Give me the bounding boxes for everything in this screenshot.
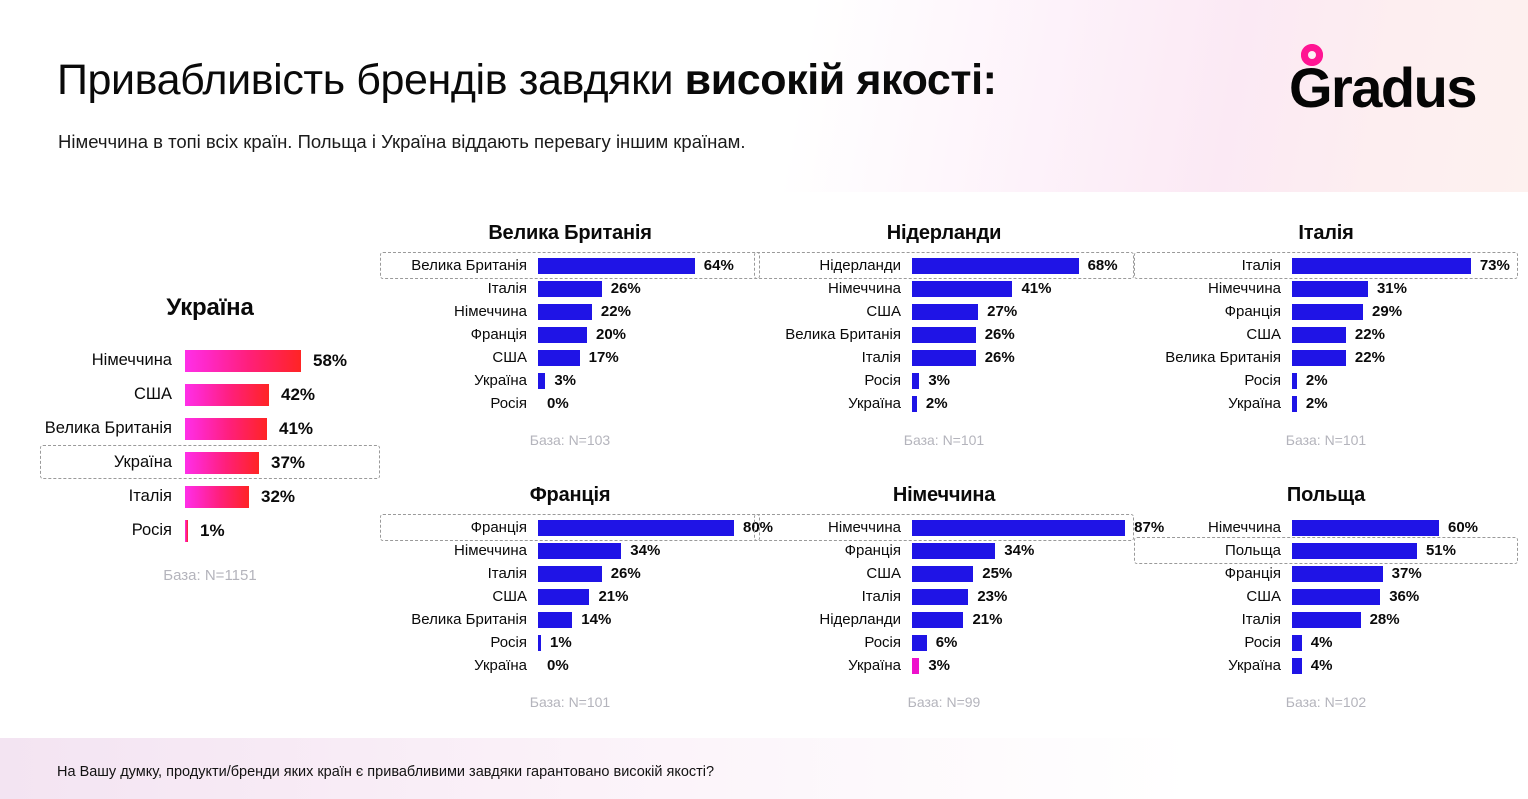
chart-rows: Франція80%Німеччина34%Італія26%США21%Вел… bbox=[386, 517, 754, 676]
header-band: Привабливість брендів завдяки високій як… bbox=[0, 0, 1528, 192]
value-bar bbox=[912, 566, 973, 582]
category-label: Росія bbox=[40, 521, 185, 540]
chart-panel-франція: ФранціяФранція80%Німеччина34%Італія26%СШ… bbox=[386, 484, 754, 710]
category-label: Україна bbox=[386, 657, 538, 674]
value-bar bbox=[912, 258, 1079, 274]
value-bar bbox=[1292, 350, 1346, 366]
category-label: Німеччина bbox=[1140, 519, 1292, 536]
page-title-emphasis: високій якості: bbox=[685, 56, 997, 104]
chart-panel-нідерланди: НідерландиНідерланди68%Німеччина41%США27… bbox=[760, 222, 1128, 448]
base-size-label: База: N=103 bbox=[386, 432, 754, 448]
value-bar bbox=[912, 520, 1125, 536]
survey-question: На Вашу думку, продукти/бренди яких краї… bbox=[57, 764, 714, 780]
value-label: 20% bbox=[596, 326, 626, 343]
value-bar bbox=[538, 520, 734, 536]
value-label: 27% bbox=[987, 303, 1017, 320]
base-size-label: База: N=101 bbox=[1140, 432, 1512, 448]
bar-container: 68% bbox=[912, 255, 1128, 276]
category-label: Німеччина bbox=[386, 303, 538, 320]
bar-container: 28% bbox=[1292, 609, 1512, 630]
value-label: 41% bbox=[279, 419, 313, 439]
value-bar bbox=[912, 635, 927, 651]
value-bar bbox=[1292, 520, 1439, 536]
value-label: 31% bbox=[1377, 280, 1407, 297]
value-bar bbox=[912, 350, 976, 366]
chart-row: Україна37% bbox=[40, 448, 380, 477]
category-label: Франція bbox=[760, 542, 912, 559]
value-bar bbox=[912, 543, 995, 559]
chart-row: США21% bbox=[386, 586, 754, 607]
value-bar bbox=[538, 258, 695, 274]
value-label: 22% bbox=[1355, 326, 1385, 343]
charts-area: УкраїнаНімеччина58%США42%Велика Британія… bbox=[0, 192, 1528, 738]
chart-row: Велика Британія14% bbox=[386, 609, 754, 630]
bar-container: 22% bbox=[1292, 324, 1512, 345]
value-label: 1% bbox=[200, 521, 225, 541]
value-bar bbox=[1292, 327, 1346, 343]
category-label: США bbox=[760, 303, 912, 320]
page-title: Привабливість брендів завдяки високій як… bbox=[57, 56, 997, 105]
chart-row: Італія73% bbox=[1140, 255, 1512, 276]
value-label: 34% bbox=[1004, 542, 1034, 559]
value-label: 4% bbox=[1311, 634, 1333, 651]
category-label: Італія bbox=[40, 487, 185, 506]
value-bar bbox=[185, 384, 269, 406]
chart-row: Італія32% bbox=[40, 482, 380, 511]
chart-row: Велика Британія64% bbox=[386, 255, 754, 276]
value-label: 26% bbox=[985, 349, 1015, 366]
chart-row: Україна0% bbox=[386, 655, 754, 676]
value-bar bbox=[912, 396, 917, 412]
chart-row: Німеччина60% bbox=[1140, 517, 1512, 538]
category-label: Велика Британія bbox=[40, 419, 185, 438]
value-bar bbox=[1292, 304, 1363, 320]
chart-row: Росія1% bbox=[386, 632, 754, 653]
chart-row: США36% bbox=[1140, 586, 1512, 607]
value-label: 41% bbox=[1021, 280, 1051, 297]
value-label: 21% bbox=[972, 611, 1002, 628]
chart-row: Росія2% bbox=[1140, 370, 1512, 391]
category-label: Італія bbox=[760, 349, 912, 366]
chart-panel-німеччина: НімеччинаНімеччина87%Франція34%США25%Іта… bbox=[760, 484, 1128, 710]
chart-row: Велика Британія26% bbox=[760, 324, 1128, 345]
category-label: Велика Британія bbox=[386, 257, 538, 274]
value-bar bbox=[538, 635, 541, 651]
value-bar bbox=[912, 373, 919, 389]
value-bar bbox=[1292, 543, 1417, 559]
chart-row: Німеччина22% bbox=[386, 301, 754, 322]
value-label: 34% bbox=[630, 542, 660, 559]
bar-container: 64% bbox=[538, 255, 754, 276]
bar-container: 3% bbox=[912, 370, 1128, 391]
value-label: 2% bbox=[926, 395, 948, 412]
value-label: 2% bbox=[1306, 372, 1328, 389]
chart-row: Італія26% bbox=[760, 347, 1128, 368]
value-bar bbox=[538, 304, 592, 320]
chart-row: Італія23% bbox=[760, 586, 1128, 607]
bar-container: 26% bbox=[912, 324, 1128, 345]
chart-row: Італія26% bbox=[386, 278, 754, 299]
chart-row: США27% bbox=[760, 301, 1128, 322]
chart-row: Україна2% bbox=[1140, 393, 1512, 414]
category-label: Росія bbox=[386, 395, 538, 412]
bar-container: 37% bbox=[185, 448, 380, 477]
base-size-label: База: N=101 bbox=[760, 432, 1128, 448]
category-label: Велика Британія bbox=[1140, 349, 1292, 366]
page-subtitle: Німеччина в топі всіх країн. Польща і Ук… bbox=[58, 131, 745, 153]
value-bar bbox=[1292, 658, 1302, 674]
chart-row: Україна3% bbox=[760, 655, 1128, 676]
value-bar bbox=[185, 350, 301, 372]
category-label: Україна bbox=[760, 657, 912, 674]
chart-row: Росія0% bbox=[386, 393, 754, 414]
value-label: 14% bbox=[581, 611, 611, 628]
category-label: Італія bbox=[1140, 257, 1292, 274]
bar-container: 22% bbox=[538, 301, 754, 322]
value-bar bbox=[912, 281, 1012, 297]
value-bar bbox=[538, 589, 589, 605]
bar-container: 34% bbox=[538, 540, 754, 561]
value-label: 68% bbox=[1088, 257, 1118, 274]
chart-title: Франція bbox=[386, 484, 754, 507]
bar-container: 4% bbox=[1292, 655, 1512, 676]
chart-row: Велика Британія41% bbox=[40, 414, 380, 443]
category-label: Росія bbox=[760, 372, 912, 389]
value-bar bbox=[1292, 281, 1368, 297]
chart-rows: Німеччина60%Польща51%Франція37%США36%Іта… bbox=[1140, 517, 1512, 676]
value-bar bbox=[912, 658, 919, 674]
chart-panel-польща: ПольщаНімеччина60%Польща51%Франція37%США… bbox=[1140, 484, 1512, 710]
category-label: Франція bbox=[386, 519, 538, 536]
value-label: 26% bbox=[985, 326, 1015, 343]
value-bar bbox=[538, 373, 545, 389]
chart-row: Німеччина31% bbox=[1140, 278, 1512, 299]
value-label: 37% bbox=[271, 453, 305, 473]
category-label: Франція bbox=[1140, 565, 1292, 582]
chart-row: Франція80% bbox=[386, 517, 754, 538]
chart-rows: Велика Британія64%Італія26%Німеччина22%Ф… bbox=[386, 255, 754, 414]
bar-container: 2% bbox=[912, 393, 1128, 414]
category-label: Росія bbox=[1140, 372, 1292, 389]
category-label: Україна bbox=[760, 395, 912, 412]
category-label: Росія bbox=[760, 634, 912, 651]
chart-row: США25% bbox=[760, 563, 1128, 584]
category-label: США bbox=[1140, 326, 1292, 343]
chart-rows: Німеччина87%Франція34%США25%Італія23%Нід… bbox=[760, 517, 1128, 676]
category-label: Німеччина bbox=[40, 351, 185, 370]
base-size-label: База: N=101 bbox=[386, 694, 754, 710]
category-label: Польща bbox=[1140, 542, 1292, 559]
base-size-label: База: N=102 bbox=[1140, 694, 1512, 710]
bar-container: 21% bbox=[538, 586, 754, 607]
category-label: Нідерланди bbox=[760, 257, 912, 274]
value-label: 58% bbox=[313, 351, 347, 371]
value-label: 64% bbox=[704, 257, 734, 274]
bar-container: 0% bbox=[538, 393, 754, 414]
chart-row: Німеччина34% bbox=[386, 540, 754, 561]
value-bar bbox=[1292, 396, 1297, 412]
bar-container: 60% bbox=[1292, 517, 1512, 538]
category-label: Велика Британія bbox=[386, 611, 538, 628]
bar-container: 31% bbox=[1292, 278, 1512, 299]
chart-title: Італія bbox=[1140, 222, 1512, 245]
value-bar bbox=[185, 452, 259, 474]
category-label: Росія bbox=[386, 634, 538, 651]
bar-container: 3% bbox=[912, 655, 1128, 676]
bar-container: 6% bbox=[912, 632, 1128, 653]
chart-row: Нідерланди68% bbox=[760, 255, 1128, 276]
value-bar bbox=[538, 281, 602, 297]
chart-rows: Нідерланди68%Німеччина41%США27%Велика Бр… bbox=[760, 255, 1128, 414]
category-label: Україна bbox=[386, 372, 538, 389]
value-label: 22% bbox=[1355, 349, 1385, 366]
category-label: Україна bbox=[40, 453, 185, 472]
bar-container: 4% bbox=[1292, 632, 1512, 653]
value-bar bbox=[538, 543, 621, 559]
logo-wordmark: Gradus bbox=[1289, 60, 1476, 116]
chart-row: Росія1% bbox=[40, 516, 380, 545]
category-label: Італія bbox=[386, 280, 538, 297]
value-bar bbox=[912, 589, 968, 605]
chart-row: Франція29% bbox=[1140, 301, 1512, 322]
chart-row: Німеччина58% bbox=[40, 346, 380, 375]
bar-container: 58% bbox=[185, 346, 380, 375]
category-label: Німеччина bbox=[760, 519, 912, 536]
value-bar bbox=[1292, 566, 1383, 582]
category-label: Україна bbox=[1140, 395, 1292, 412]
value-label: 60% bbox=[1448, 519, 1478, 536]
value-label: 36% bbox=[1389, 588, 1419, 605]
category-label: Німеччина bbox=[1140, 280, 1292, 297]
value-label: 22% bbox=[601, 303, 631, 320]
chart-row: Росія3% bbox=[760, 370, 1128, 391]
value-bar bbox=[1292, 373, 1297, 389]
value-label: 37% bbox=[1392, 565, 1422, 582]
category-label: Франція bbox=[1140, 303, 1292, 320]
chart-row: Польща51% bbox=[1140, 540, 1512, 561]
value-label: 3% bbox=[554, 372, 576, 389]
category-label: США bbox=[386, 349, 538, 366]
bar-container: 32% bbox=[185, 482, 380, 511]
page-title-plain: Привабливість брендів завдяки bbox=[57, 56, 685, 104]
value-bar bbox=[538, 327, 587, 343]
bar-container: 26% bbox=[538, 278, 754, 299]
chart-rows: Італія73%Німеччина31%Франція29%США22%Вел… bbox=[1140, 255, 1512, 414]
bar-container: 36% bbox=[1292, 586, 1512, 607]
value-bar bbox=[538, 566, 602, 582]
bar-container: 14% bbox=[538, 609, 754, 630]
chart-row: Франція34% bbox=[760, 540, 1128, 561]
bar-container: 2% bbox=[1292, 393, 1512, 414]
category-label: Італія bbox=[760, 588, 912, 605]
category-label: Франція bbox=[386, 326, 538, 343]
chart-row: Італія28% bbox=[1140, 609, 1512, 630]
chart-row: Німеччина41% bbox=[760, 278, 1128, 299]
value-label: 29% bbox=[1372, 303, 1402, 320]
chart-row: Велика Британія22% bbox=[1140, 347, 1512, 368]
category-label: США bbox=[386, 588, 538, 605]
category-label: Німеччина bbox=[386, 542, 538, 559]
value-label: 32% bbox=[261, 487, 295, 507]
value-label: 3% bbox=[928, 372, 950, 389]
bar-container: 22% bbox=[1292, 347, 1512, 368]
value-bar bbox=[912, 327, 976, 343]
bar-container: 20% bbox=[538, 324, 754, 345]
value-bar bbox=[185, 418, 267, 440]
value-label: 28% bbox=[1370, 611, 1400, 628]
bar-container: 25% bbox=[912, 563, 1128, 584]
value-label: 51% bbox=[1426, 542, 1456, 559]
value-bar bbox=[1292, 635, 1302, 651]
bar-container: 23% bbox=[912, 586, 1128, 607]
chart-row: Україна4% bbox=[1140, 655, 1512, 676]
chart-title: Німеччина bbox=[760, 484, 1128, 507]
bar-container: 80% bbox=[538, 517, 773, 538]
bar-container: 26% bbox=[538, 563, 754, 584]
category-label: Італія bbox=[386, 565, 538, 582]
category-label: Велика Британія bbox=[760, 326, 912, 343]
category-label: Нідерланди bbox=[760, 611, 912, 628]
bar-container: 3% bbox=[538, 370, 754, 391]
chart-panel-україна: УкраїнаНімеччина58%США42%Велика Британія… bbox=[40, 294, 380, 584]
category-label: Росія bbox=[1140, 634, 1292, 651]
gradus-logo: Gradus bbox=[1289, 50, 1476, 112]
bar-container: 1% bbox=[185, 516, 380, 545]
value-bar bbox=[185, 520, 188, 542]
value-bar bbox=[1292, 258, 1471, 274]
value-label: 6% bbox=[936, 634, 958, 651]
bar-container: 42% bbox=[185, 380, 380, 409]
value-bar bbox=[1292, 589, 1380, 605]
category-label: Україна bbox=[1140, 657, 1292, 674]
value-label: 2% bbox=[1306, 395, 1328, 412]
chart-panel-велика-британія: Велика БританіяВелика Британія64%Італія2… bbox=[386, 222, 754, 448]
category-label: США bbox=[40, 385, 185, 404]
base-size-label: База: N=1151 bbox=[40, 567, 380, 584]
chart-title: Велика Британія bbox=[386, 222, 754, 245]
bar-container: 27% bbox=[912, 301, 1128, 322]
chart-title: Нідерланди bbox=[760, 222, 1128, 245]
chart-row: США17% bbox=[386, 347, 754, 368]
value-bar bbox=[912, 304, 978, 320]
chart-row: Німеччина87% bbox=[760, 517, 1128, 538]
chart-row: Україна3% bbox=[386, 370, 754, 391]
category-label: Німеччина bbox=[760, 280, 912, 297]
value-label: 73% bbox=[1480, 257, 1510, 274]
chart-title: Польща bbox=[1140, 484, 1512, 507]
chart-panel-італія: ІталіяІталія73%Німеччина31%Франція29%США… bbox=[1140, 222, 1512, 448]
chart-row: Італія26% bbox=[386, 563, 754, 584]
bar-container: 29% bbox=[1292, 301, 1512, 322]
category-label: США bbox=[1140, 588, 1292, 605]
value-bar bbox=[1292, 612, 1361, 628]
bar-container: 2% bbox=[1292, 370, 1512, 391]
chart-row: Росія6% bbox=[760, 632, 1128, 653]
bar-container: 41% bbox=[912, 278, 1128, 299]
value-label: 42% bbox=[281, 385, 315, 405]
bar-container: 34% bbox=[912, 540, 1128, 561]
chart-rows: Німеччина58%США42%Велика Британія41%Укра… bbox=[40, 346, 380, 545]
value-label: 25% bbox=[982, 565, 1012, 582]
bar-container: 51% bbox=[1292, 540, 1512, 561]
value-bar bbox=[185, 486, 249, 508]
bar-container: 73% bbox=[1292, 255, 1512, 276]
value-bar bbox=[912, 612, 963, 628]
value-label: 1% bbox=[550, 634, 572, 651]
base-size-label: База: N=99 bbox=[760, 694, 1128, 710]
chart-row: Франція20% bbox=[386, 324, 754, 345]
chart-row: Франція37% bbox=[1140, 563, 1512, 584]
bar-container: 87% bbox=[912, 517, 1164, 538]
chart-row: Росія4% bbox=[1140, 632, 1512, 653]
bar-container: 1% bbox=[538, 632, 754, 653]
bar-container: 26% bbox=[912, 347, 1128, 368]
bar-container: 41% bbox=[185, 414, 380, 443]
category-label: Італія bbox=[1140, 611, 1292, 628]
bar-container: 37% bbox=[1292, 563, 1512, 584]
bar-container: 0% bbox=[538, 655, 754, 676]
value-label: 26% bbox=[611, 280, 641, 297]
value-label: 23% bbox=[977, 588, 1007, 605]
value-label: 21% bbox=[598, 588, 628, 605]
value-bar bbox=[538, 612, 572, 628]
value-label: 17% bbox=[589, 349, 619, 366]
bar-container: 21% bbox=[912, 609, 1128, 630]
chart-row: США42% bbox=[40, 380, 380, 409]
chart-row: Нідерланди21% bbox=[760, 609, 1128, 630]
value-bar bbox=[538, 350, 580, 366]
value-label: 0% bbox=[547, 395, 569, 412]
footer-band: На Вашу думку, продукти/бренди яких краї… bbox=[0, 738, 1528, 799]
value-label: 3% bbox=[928, 657, 950, 674]
chart-row: Україна2% bbox=[760, 393, 1128, 414]
chart-row: США22% bbox=[1140, 324, 1512, 345]
value-label: 26% bbox=[611, 565, 641, 582]
value-label: 4% bbox=[1311, 657, 1333, 674]
value-label: 0% bbox=[547, 657, 569, 674]
chart-title: Україна bbox=[40, 294, 380, 322]
category-label: США bbox=[760, 565, 912, 582]
bar-container: 17% bbox=[538, 347, 754, 368]
